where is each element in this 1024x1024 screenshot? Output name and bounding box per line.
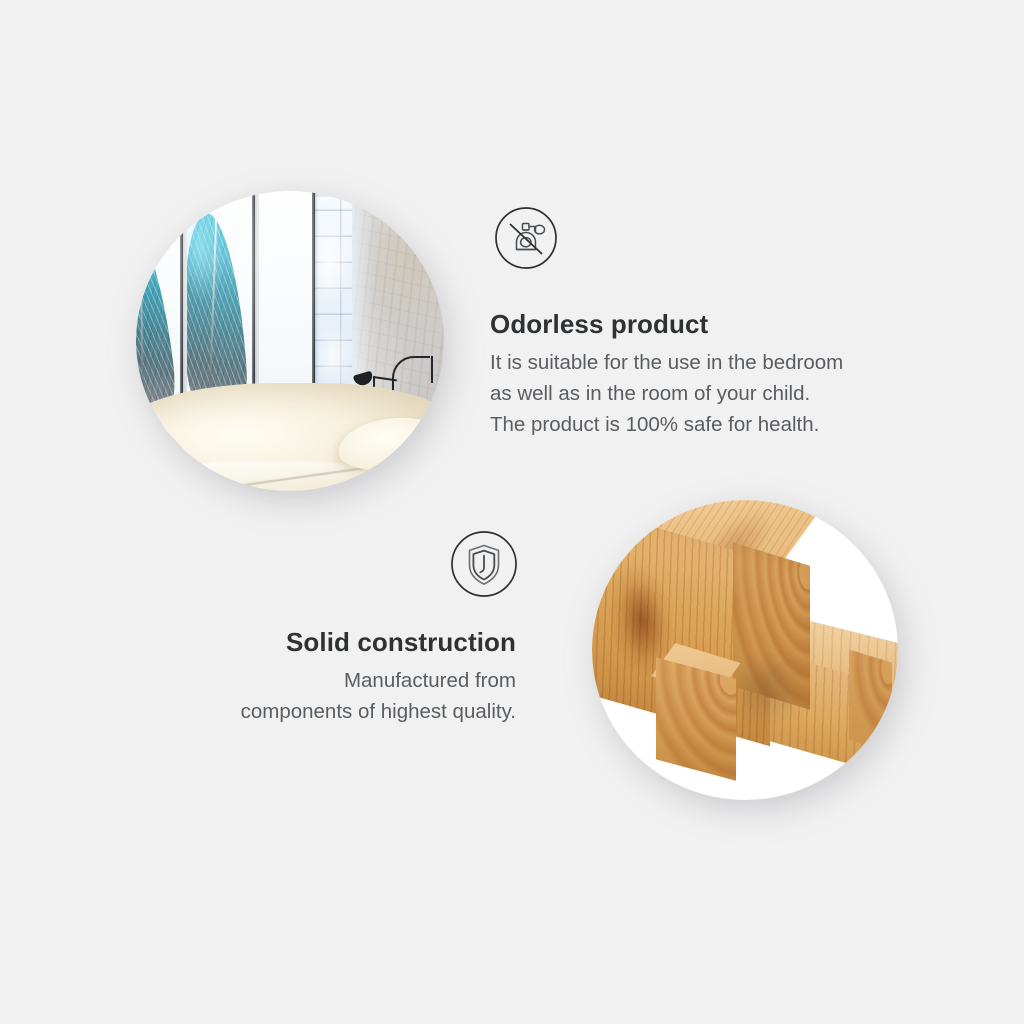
- feature-body-solid-construction: Manufactured from components of highest …: [60, 666, 516, 728]
- feature-body-line: The product is 100% safe for health.: [490, 410, 950, 441]
- feature-text-odorless: Odorless product It is suitable for the …: [490, 310, 950, 440]
- feature-body-odorless: It is suitable for the use in the bedroo…: [490, 348, 950, 441]
- beam-right-end-grain: [849, 649, 892, 752]
- bed: [136, 383, 444, 491]
- infographic-stage: Odorless product It is suitable for the …: [0, 0, 1024, 1024]
- shield-icon: [450, 530, 518, 598]
- bedroom-feather-canvas-photo: [136, 191, 444, 491]
- wooden-beams-photo: [592, 500, 898, 800]
- feature-text-solid-construction: Solid construction Manufactured from com…: [60, 628, 516, 728]
- feature-body-line: It is suitable for the use in the bedroo…: [490, 348, 950, 379]
- lamp-post: [431, 356, 433, 383]
- photo-clip: [136, 191, 444, 491]
- feature-title-solid-construction: Solid construction: [60, 628, 516, 657]
- feature-body-line: Manufactured from: [60, 666, 516, 697]
- photo-clip: [592, 500, 898, 800]
- beam-front-end-grain: [656, 657, 736, 780]
- feature-body-line: components of highest quality.: [60, 697, 516, 728]
- no-fragrance-icon: [494, 206, 558, 270]
- feature-title-odorless: Odorless product: [490, 310, 950, 339]
- wood-gap-shadow: [739, 662, 806, 728]
- wood-scene: [592, 500, 898, 800]
- bedroom-scene: [136, 191, 444, 491]
- feature-body-line: as well as in the room of your child.: [490, 379, 950, 410]
